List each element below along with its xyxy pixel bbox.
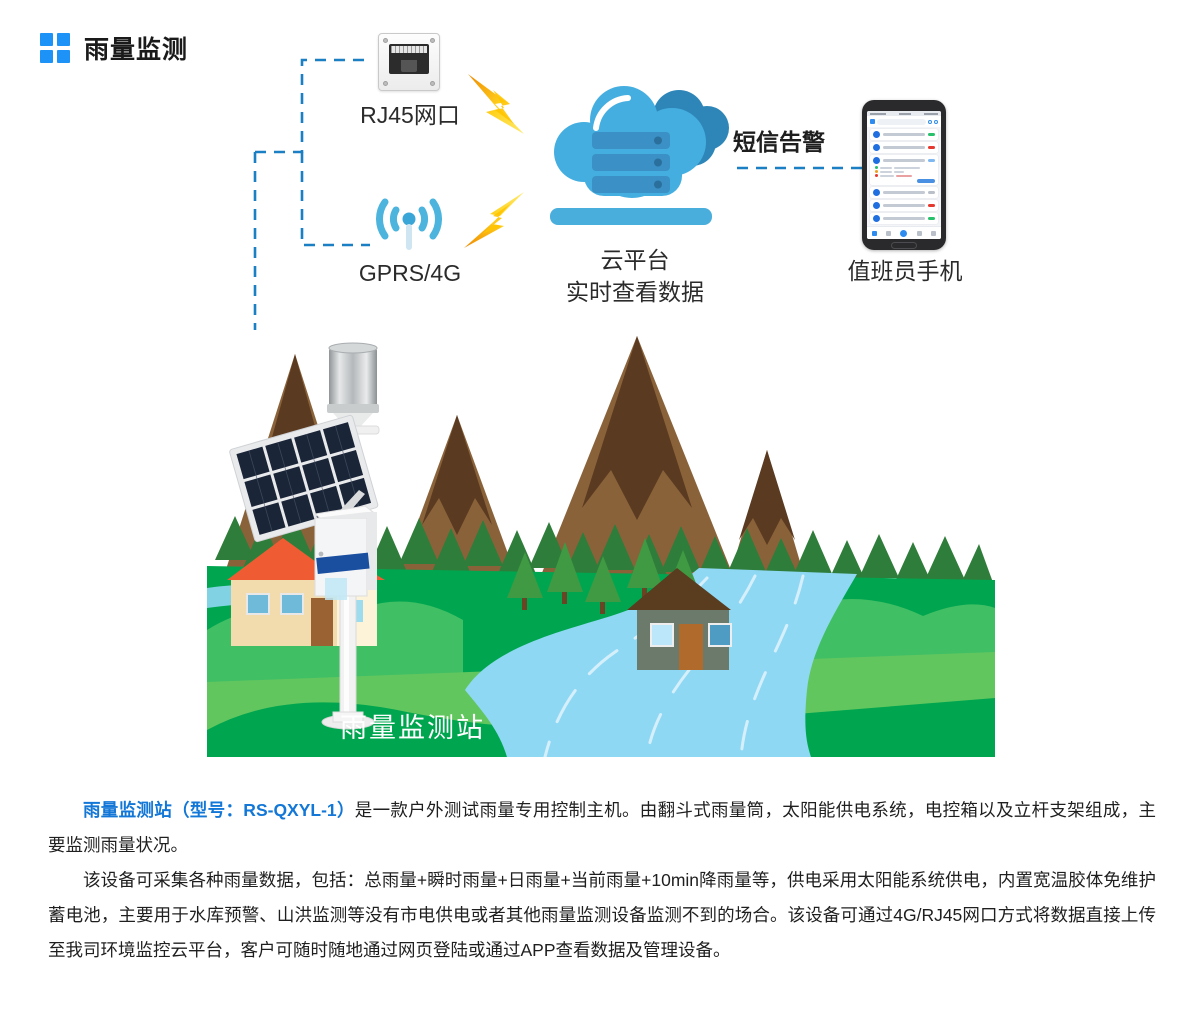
device-icon [873,157,880,164]
status-badge [928,133,935,136]
description-block: 雨量监测站（型号：RS-QXYL-1）是一款户外测试雨量专用控制主机。由翻斗式雨… [48,793,1156,968]
tab-home-icon[interactable] [872,231,877,236]
device-name [883,191,925,194]
menu-icon[interactable] [870,119,875,124]
lightning-bolt-icon [460,190,530,252]
sms-alert-label: 短信告警 [733,123,825,157]
rain-monitoring-station [207,330,995,757]
device-icon [873,215,880,222]
description-paragraph-2: 该设备可采集各种雨量数据，包括：总雨量+瞬时雨量+日雨量+当前雨量+10min降… [48,863,1156,968]
lightning-bolt-icon [462,72,532,140]
device-icon [873,189,880,196]
status-badge [928,191,935,194]
landscape-illustration [207,330,995,757]
phone-screen [867,111,941,239]
wifi-signal-icon [376,196,442,254]
tab-me-icon[interactable] [931,231,936,236]
cloud-server-icon [532,80,732,240]
app-tab-bar[interactable] [867,226,941,239]
status-badge [928,146,935,149]
page-root: 雨量监测 RJ45网口 [0,0,1200,1019]
tab-chart-icon[interactable] [917,231,922,236]
gprs-label: GPRS/4G [330,260,490,287]
device-name [883,133,925,136]
cloud-platform-label: 云平台 实时查看数据 [520,245,750,308]
list-item[interactable] [870,129,938,140]
bell-icon[interactable] [934,120,938,124]
app-search-bar[interactable] [867,116,941,127]
ethernet-port-icon [378,33,440,91]
device-icon [873,131,880,138]
device-name [883,159,925,162]
product-name-highlight: 雨量监测站（型号：RS-QXYL-1） [83,800,355,820]
device-name [883,204,925,207]
device-icon [873,202,880,209]
cloud-label-line2: 实时查看数据 [520,277,750,309]
list-item[interactable] [870,200,938,211]
grid-four-squares-icon [40,33,70,63]
control-box [315,506,377,600]
device-detail [873,166,935,177]
tab-center-icon[interactable] [900,230,907,237]
device-icon [873,144,880,151]
search-input[interactable] [877,119,926,125]
cloud-label-line1: 云平台 [520,245,750,277]
page-title: 雨量监测 [84,30,188,66]
detail-action-button[interactable] [917,179,935,183]
tab-list-icon[interactable] [886,231,891,236]
status-badge [928,159,935,162]
status-badge [928,204,935,207]
list-item[interactable] [870,213,938,224]
phone-home-button[interactable] [891,242,917,249]
smartphone-icon [862,100,946,250]
user-icon[interactable] [928,120,932,124]
status-badge [928,217,935,220]
phone-label: 值班员手机 [820,252,990,286]
device-name [883,217,925,220]
list-item[interactable] [870,187,938,198]
device-list [867,127,941,226]
list-item[interactable] [870,142,938,153]
list-item-expanded[interactable] [870,155,938,185]
station-caption: 雨量监测站 [340,706,485,745]
description-paragraph-1: 雨量监测站（型号：RS-QXYL-1）是一款户外测试雨量专用控制主机。由翻斗式雨… [48,793,1156,863]
page-header: 雨量监测 [40,30,188,66]
device-name [883,146,925,149]
